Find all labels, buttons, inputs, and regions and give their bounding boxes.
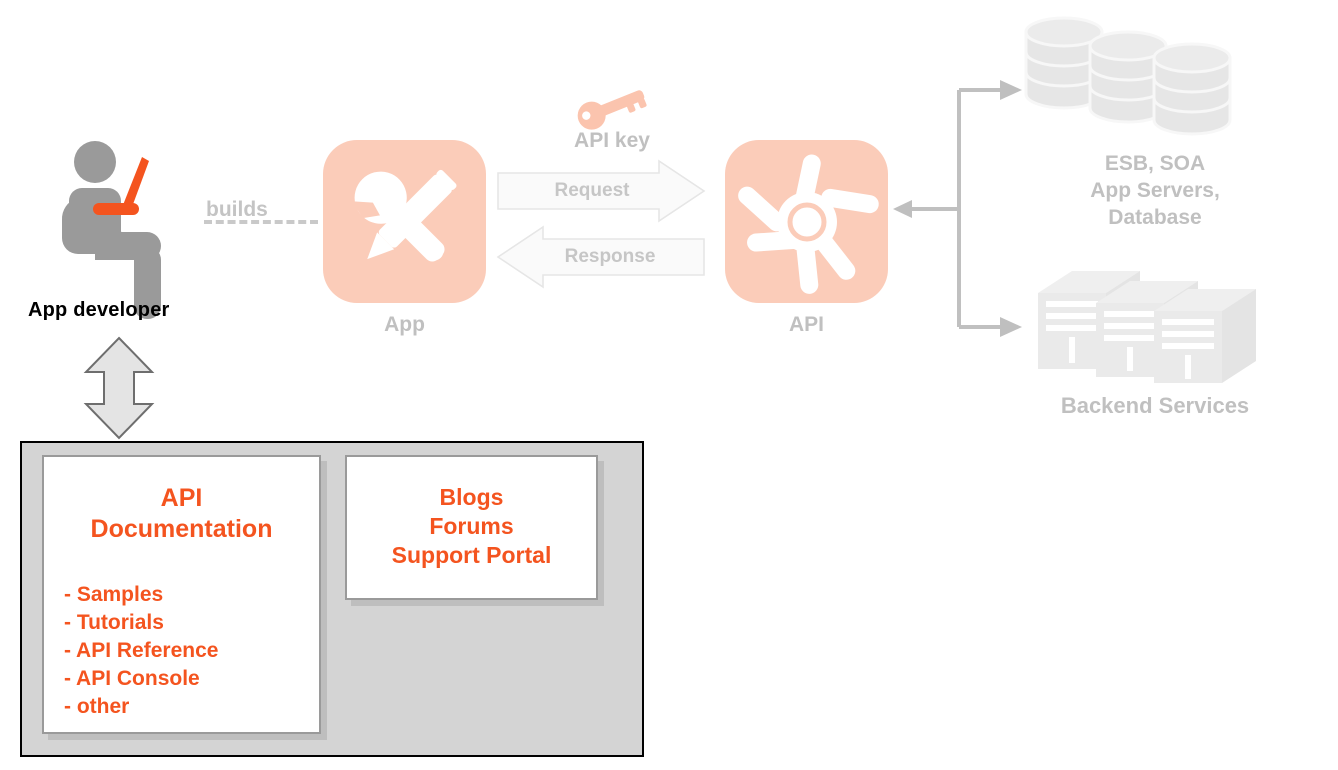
list-item[interactable]: - Samples [64, 581, 319, 609]
backend-services-label: Backend Services [1010, 392, 1300, 419]
api-node-tile[interactable] [725, 140, 888, 303]
response-flow-label: Response [515, 226, 705, 288]
list-item[interactable]: - API Reference [64, 637, 319, 665]
wrench-and-pencil-icon [323, 140, 486, 303]
community-card-line-3: Support Portal [347, 541, 596, 570]
double-headed-vertical-arrow-icon [84, 336, 154, 440]
seated-developer-with-laptop-icon [55, 140, 245, 325]
api-documentation-card[interactable]: API Documentation - Samples - Tutorials … [42, 455, 321, 734]
list-item[interactable]: - other [64, 693, 319, 721]
portal-link-double-arrow [84, 336, 154, 440]
backend-database-label-line-2: App Servers, [1030, 177, 1280, 204]
app-node-tile[interactable] [323, 140, 486, 303]
backend-database-label-line-1: ESB, SOA [1030, 150, 1280, 177]
api-documentation-card-title: API Documentation [44, 483, 319, 545]
response-flow-arrow: Response [497, 226, 705, 288]
builds-link-label: builds [206, 196, 326, 223]
community-card-line-1: Blogs [347, 483, 596, 512]
api-documentation-title-line-1: API [44, 483, 319, 514]
community-card-lines: Blogs Forums Support Portal [347, 483, 596, 570]
request-flow-arrow: Request [497, 160, 705, 222]
app-developer-label: App developer [28, 299, 228, 322]
api-hub-star-icon [725, 140, 888, 303]
api-documentation-title-line-2: Documentation [44, 514, 319, 545]
server-racks-icon [1030, 255, 1280, 380]
database-stack-group [1022, 14, 1272, 134]
server-racks-group [1030, 255, 1280, 380]
list-item[interactable]: - API Console [64, 665, 319, 693]
developer-portal-panel: API Documentation - Samples - Tutorials … [20, 441, 644, 757]
api-documentation-card-items: - Samples - Tutorials - API Reference - … [44, 581, 319, 721]
list-item[interactable]: - Tutorials [64, 609, 319, 637]
request-flow-label: Request [497, 160, 687, 222]
builds-dashed-line [204, 220, 318, 224]
community-card-line-2: Forums [347, 512, 596, 541]
key-icon [568, 85, 658, 125]
database-stack-icon [1022, 14, 1272, 134]
api-key-label: API key [552, 127, 672, 154]
community-card[interactable]: Blogs Forums Support Portal [345, 455, 598, 600]
app-node-label: App [323, 311, 486, 338]
api-node-label: API [725, 311, 888, 338]
backend-database-label-line-3: Database [1030, 204, 1280, 231]
backend-database-label: ESB, SOA App Servers, Database [1030, 150, 1280, 231]
